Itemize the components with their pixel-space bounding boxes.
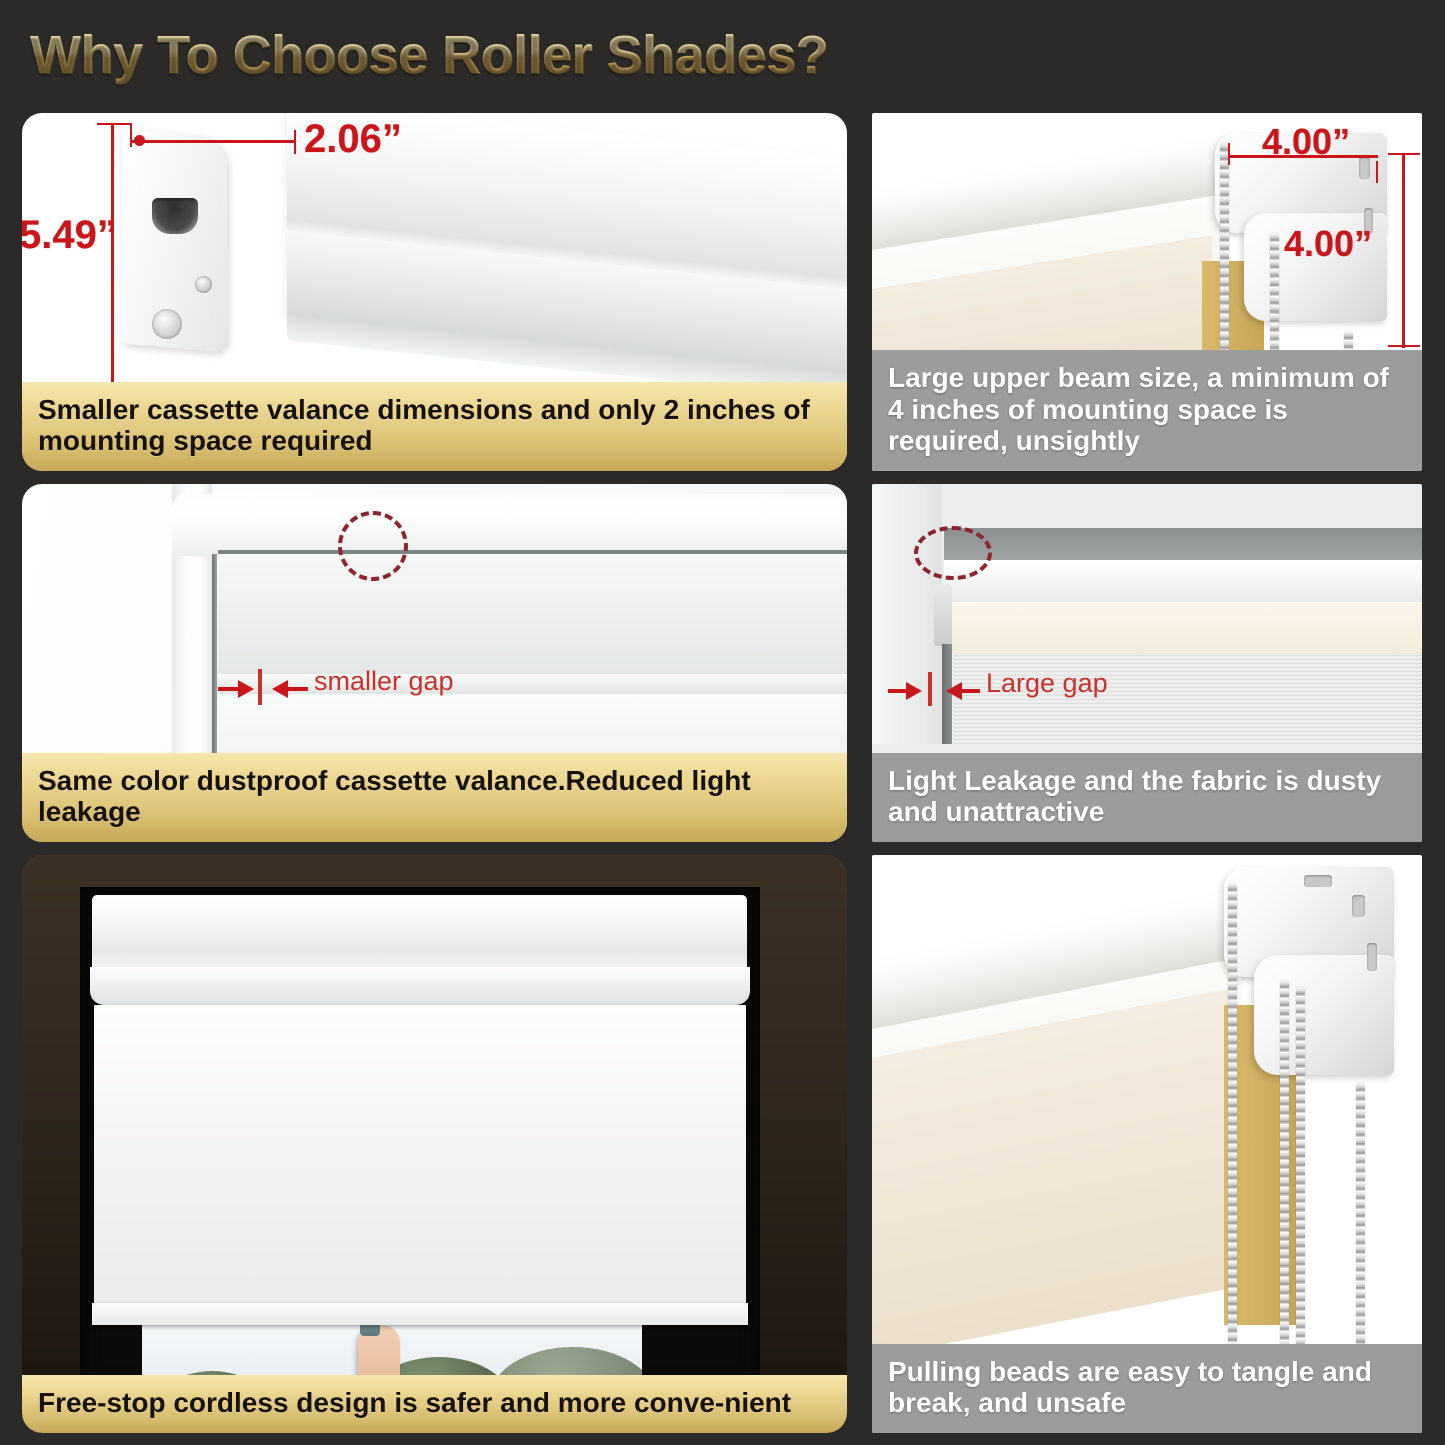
- shade-top-edge-line: [218, 550, 847, 554]
- bead-chain-1: [1228, 883, 1237, 1348]
- panel-2-caption: Large upper beam size, a minimum of 4 in…: [872, 350, 1422, 471]
- gap-arrow-right-stem: [960, 689, 980, 693]
- gap-arrow-right-stem: [286, 687, 308, 691]
- panel-4-caption: Light Leakage and the fabric is dusty an…: [872, 753, 1422, 842]
- bead-chain-4: [1356, 1083, 1365, 1348]
- gap-arrow-left-stem: [888, 689, 908, 693]
- panel-smaller-gap: smaller gap Same color dustproof cassett…: [22, 484, 847, 842]
- gap-marker-bar: [928, 672, 932, 706]
- width-dimension-line: [130, 140, 296, 143]
- window-casing-top: [172, 494, 847, 556]
- width-dimension-tick-right: [294, 130, 296, 154]
- roller-shade-fabric: [94, 1005, 746, 1317]
- bracket-slot-3: [1304, 875, 1332, 887]
- shade-upper-fabric: [218, 550, 847, 680]
- valance-lip: [90, 967, 750, 1005]
- gap-highlight-ellipse: [914, 526, 992, 580]
- gap-arrow-left: [238, 680, 254, 698]
- side-bracket: [934, 584, 952, 646]
- beam-height-label: 4.00”: [1284, 223, 1372, 265]
- bead-chain-2: [1280, 980, 1289, 1348]
- cream-fabric-band: [950, 602, 1422, 654]
- beam-width-tick-right: [1376, 161, 1378, 183]
- panel-large-gap: Large gap Light Leakage and the fabric i…: [872, 484, 1422, 842]
- bead-chain-1: [1220, 143, 1229, 373]
- screw-icon: [195, 276, 212, 293]
- beam-width-tick-left: [1228, 143, 1230, 165]
- panel-1-caption: Smaller cassette valance dimensions and …: [22, 382, 847, 471]
- bracket-slot-2: [1367, 943, 1377, 971]
- page-title: Why To Choose Roller Shades?: [30, 24, 828, 86]
- panel-6-caption: Pulling beads are easy to tangle and bre…: [872, 1344, 1422, 1433]
- panel-large-beam-dimensions: 4.00” 4.00” Large upper beam size, a min…: [872, 113, 1422, 471]
- bead-chain-3: [1296, 987, 1305, 1347]
- large-gap-label: Large gap: [986, 668, 1108, 699]
- panel-pull-beads: Pulling beads are easy to tangle and bre…: [872, 855, 1422, 1433]
- panel-cordless-design: Free-stop cordless design is safer and m…: [22, 855, 847, 1433]
- valance-slot: [152, 198, 198, 234]
- width-dimension-label: 2.06”: [304, 117, 402, 162]
- title-bar: Why To Choose Roller Shades? Why To Choo…: [0, 0, 1445, 108]
- beam-height-dimension-line: [1402, 153, 1405, 348]
- beam-height-tick-bottom: [1388, 345, 1420, 347]
- panel-5-caption: Free-stop cordless design is safer and m…: [22, 1375, 847, 1433]
- screw-lower-icon: [152, 309, 182, 339]
- panel-cassette-dimensions: 2.06” 5.49” Smaller cassette valance dim…: [22, 113, 847, 471]
- bracket-slot-1: [1359, 157, 1370, 179]
- bracket-slot-1: [1352, 895, 1365, 917]
- panel-3-caption: Same color dustproof cassette valance.Re…: [22, 753, 847, 842]
- beam-height-tick-top: [1388, 153, 1420, 155]
- height-dimension-label: 5.49”: [22, 213, 117, 258]
- gap-marker-bar: [258, 669, 262, 705]
- panel-5-photo: [22, 855, 847, 1433]
- shade-bottom-rail: [92, 1303, 748, 1325]
- shade-mid-rail: [218, 674, 847, 696]
- cassette-valance: [92, 895, 747, 975]
- gap-arrow-left: [906, 682, 922, 700]
- smaller-gap-label: smaller gap: [314, 666, 454, 697]
- gap-highlight-ellipse: [338, 511, 408, 581]
- width-dimension-tick-left: [130, 123, 132, 147]
- gap-arrow-left-stem: [218, 687, 240, 691]
- beam-width-label: 4.00”: [1262, 121, 1350, 163]
- mounting-bracket-lower: [1254, 955, 1394, 1075]
- height-dimension-tick-top: [97, 123, 131, 125]
